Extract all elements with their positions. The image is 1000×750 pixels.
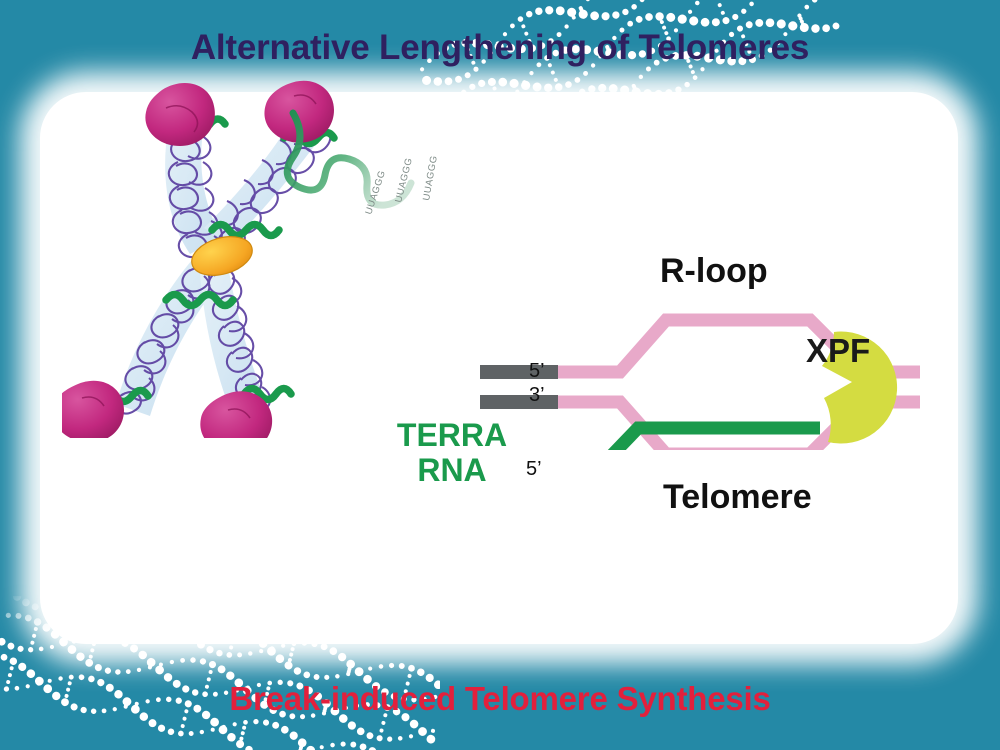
page-title: Alternative Lengthening of Telomeres [0,28,1000,68]
terra-rna-tail: UUAGGG UUAGGG UUAGGG [275,95,465,275]
telomere-label: Telomere [663,478,812,517]
rna-strand [287,113,411,205]
rna-sequence-labels: UUAGGG UUAGGG UUAGGG [363,154,440,215]
terra-rna-label-line2: RNA [372,453,532,488]
prime-label-5-bottom: 5’ [526,458,542,481]
page-subtitle: Break-induced Telomere Synthesis [0,680,1000,718]
xpf-label: XPF [806,332,870,370]
svg-text:UUAGGG: UUAGGG [421,154,440,201]
figure-canvas: Alternative Lengthening of Telomeres [0,0,1000,750]
r-loop-label: R-loop [660,252,768,291]
terra-rna-label: TERRA RNA [372,418,532,487]
terra-rna-label-line1: TERRA [372,418,532,453]
prime-label-3-top: 3’ [529,384,545,407]
prime-label-5-top: 5’ [529,360,545,383]
grey-duplex-dna [480,365,558,409]
